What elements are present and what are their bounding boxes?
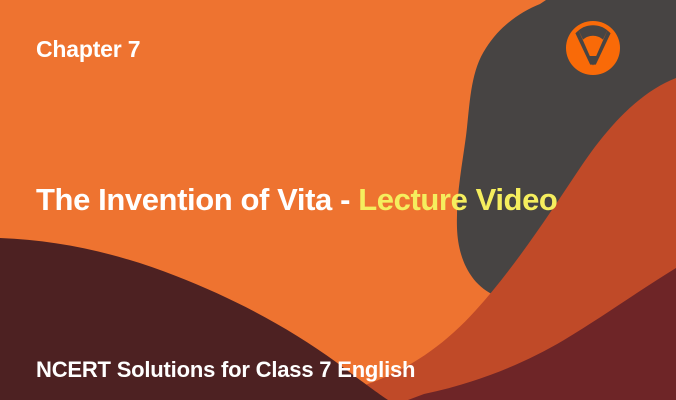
page-title-main: The Invention of Vita - (36, 182, 358, 217)
page-title: The Invention of Vita - Lecture Video (36, 180, 616, 219)
lecture-video-thumbnail-card: Chapter 7 The Invention of Vita - Lectur… (0, 0, 676, 400)
page-title-accent: Lecture Video (358, 182, 557, 217)
chapter-label: Chapter 7 (36, 36, 140, 64)
footer-label: NCERT Solutions for Class 7 English (36, 357, 415, 383)
vedantu-v-logo-icon (565, 20, 621, 76)
